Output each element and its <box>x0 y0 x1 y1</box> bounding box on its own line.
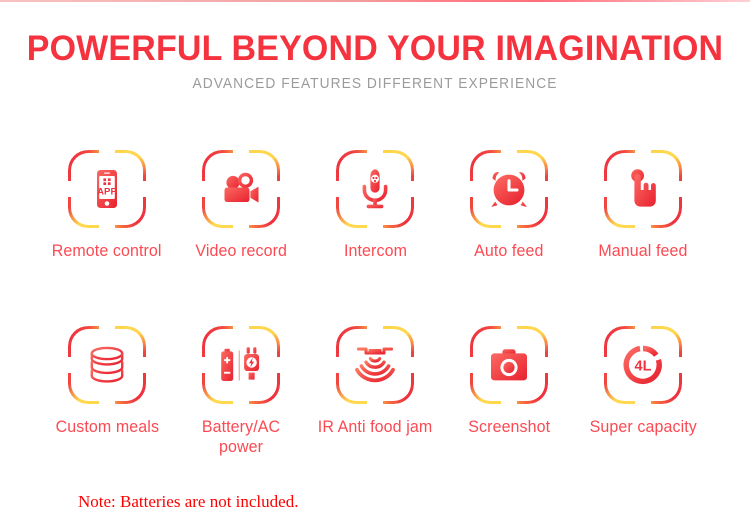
feature-item-video-record[interactable]: Video record <box>176 150 306 261</box>
frame-notch-top <box>501 149 517 154</box>
frame-notch-bottom <box>233 400 249 405</box>
feature-label: Intercom <box>343 241 406 261</box>
frame-notch-left <box>469 357 474 373</box>
icon-frame <box>604 150 682 228</box>
icon-frame <box>336 150 414 228</box>
frame-notch-right <box>410 181 415 197</box>
frame-notch-top <box>367 325 383 330</box>
frame-notch-bottom <box>367 400 383 405</box>
icon-frame <box>470 326 548 404</box>
frame-notch-right <box>678 357 683 373</box>
feature-label: Auto feed <box>474 241 543 261</box>
icon-frame <box>470 150 548 228</box>
microphone-icon <box>352 166 398 212</box>
feature-label: Video record <box>195 241 287 261</box>
battery-plug-icon <box>218 342 264 388</box>
frame-notch-left <box>603 357 608 373</box>
frame-notch-top <box>99 149 115 154</box>
icon-frame <box>202 326 280 404</box>
frame-notch-left <box>335 357 340 373</box>
icon-frame <box>336 326 414 404</box>
frame-notch-right <box>544 181 549 197</box>
page-subtitle: ADVANCED FEATURES DIFFERENT EXPERIENCE <box>19 76 732 92</box>
alarm-clock-icon <box>486 166 532 212</box>
frame-notch-right <box>678 181 683 197</box>
feature-label: Battery/AC power <box>178 417 304 457</box>
icon-text: APP <box>97 187 117 198</box>
camera-icon <box>486 342 532 388</box>
frame-notch-left <box>335 181 340 197</box>
frame-notch-bottom <box>367 224 383 229</box>
feature-label: Screenshot <box>468 417 550 437</box>
frame-notch-left <box>469 181 474 197</box>
frame-notch-left <box>201 181 206 197</box>
frame-notch-right <box>410 357 415 373</box>
frame-notch-top <box>233 325 249 330</box>
feature-item-screenshot[interactable]: Screenshot <box>444 326 574 457</box>
frame-notch-left <box>603 181 608 197</box>
feature-label: Custom meals <box>55 417 158 437</box>
frame-notch-bottom <box>233 224 249 229</box>
frame-notch-top <box>367 149 383 154</box>
icon-text: 4L <box>635 358 652 374</box>
frame-notch-top <box>635 325 651 330</box>
feature-item-intercom[interactable]: Intercom <box>310 150 440 261</box>
feature-label: Super capacity <box>589 417 696 437</box>
frame-notch-left <box>201 357 206 373</box>
frame-notch-bottom <box>501 400 517 405</box>
feature-grid-row-1: APP Remote control <box>0 150 750 261</box>
top-divider-rule <box>0 0 750 2</box>
frame-notch-left <box>67 357 72 373</box>
feature-label: Remote control <box>52 241 162 261</box>
capacity-ring-icon: 4L <box>620 342 666 388</box>
frame-notch-bottom <box>635 400 651 405</box>
feature-item-manual-feed[interactable]: Manual feed <box>578 150 708 261</box>
feature-item-custom-meals[interactable]: Custom meals <box>42 326 172 457</box>
hand-tap-icon <box>620 166 666 212</box>
smartphone-app-icon: APP <box>84 166 130 212</box>
stacked-plates-icon <box>84 342 130 388</box>
banner-header: POWERFUL BEYOND YOUR IMAGINATION ADVANCE… <box>0 28 750 92</box>
frame-notch-bottom <box>99 400 115 405</box>
ir-sensor-waves-icon <box>352 342 398 388</box>
feature-label: Manual feed <box>598 241 687 261</box>
frame-notch-right <box>276 357 281 373</box>
feature-item-battery-ac-power[interactable]: Battery/AC power <box>176 326 306 457</box>
frame-notch-right <box>544 357 549 373</box>
frame-notch-bottom <box>635 224 651 229</box>
feature-grid-row-2: Custom meals <box>0 326 750 457</box>
frame-notch-top <box>635 149 651 154</box>
footnote-batteries: Note: Batteries are not included. <box>78 492 298 512</box>
video-camera-icon <box>218 166 264 212</box>
icon-frame <box>202 150 280 228</box>
frame-notch-right <box>142 357 147 373</box>
frame-notch-right <box>142 181 147 197</box>
page-title: POWERFUL BEYOND YOUR IMAGINATION <box>11 28 739 70</box>
frame-notch-bottom <box>501 224 517 229</box>
icon-frame <box>68 326 146 404</box>
icon-frame: APP <box>68 150 146 228</box>
frame-notch-left <box>67 181 72 197</box>
feature-item-remote-control[interactable]: APP Remote control <box>42 150 172 261</box>
feature-label: IR Anti food jam <box>318 417 433 437</box>
frame-notch-right <box>276 181 281 197</box>
frame-notch-bottom <box>99 224 115 229</box>
feature-banner: POWERFUL BEYOND YOUR IMAGINATION ADVANCE… <box>0 0 750 527</box>
feature-item-super-capacity[interactable]: 4L Super capacity <box>578 326 708 457</box>
frame-notch-top <box>501 325 517 330</box>
frame-notch-top <box>99 325 115 330</box>
feature-item-ir-anti-food-jam[interactable]: IR Anti food jam <box>310 326 440 457</box>
icon-frame: 4L <box>604 326 682 404</box>
feature-item-auto-feed[interactable]: Auto feed <box>444 150 574 261</box>
frame-notch-top <box>233 149 249 154</box>
